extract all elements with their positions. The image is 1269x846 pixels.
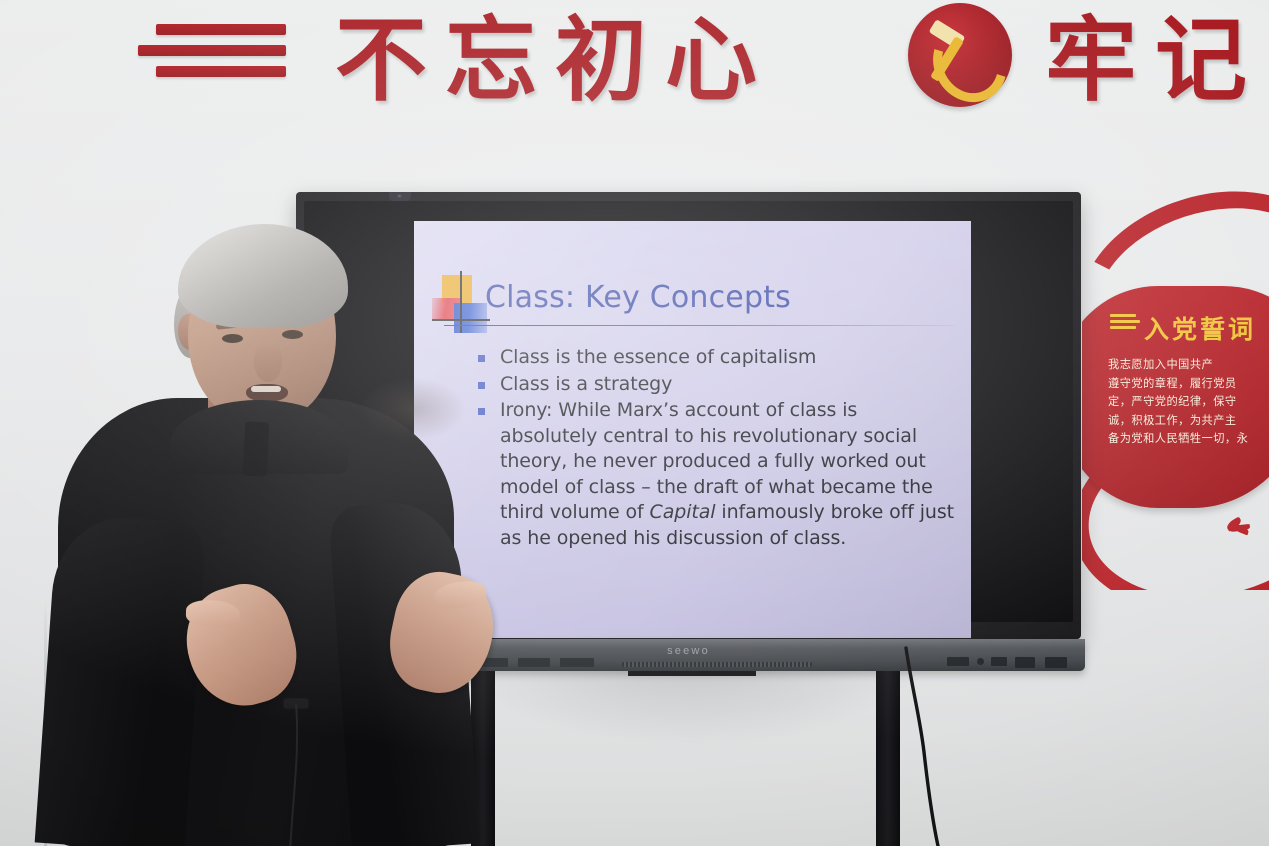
- presentation-slide[interactable]: Class: Key Concepts Class is the essence…: [414, 221, 971, 638]
- power-cable: [898, 648, 944, 846]
- eye-left: [222, 334, 243, 343]
- bullet-text-rich: Irony: While Marx’s account of class is …: [500, 398, 958, 551]
- banner-text-left: 不忘初心: [335, 0, 775, 119]
- stand-leg-right: [876, 671, 900, 846]
- speaker-grille: [622, 662, 812, 667]
- display-brand-label: seewo: [667, 645, 710, 657]
- wall-banner: 不忘初心 牢记: [0, 0, 1269, 110]
- eye-right: [282, 330, 303, 339]
- slide-bullet-list: Class is the essence of capitalism Class…: [478, 345, 958, 552]
- oath-body-text: 我志愿加入中国共产 遵守党的章程，履行党员 定，严守党的纪律，保守 诚，积极工作…: [1108, 356, 1269, 449]
- party-emblem-icon: [908, 3, 1012, 107]
- bullet-item: Irony: While Marx’s account of class is …: [478, 398, 958, 551]
- oath-heading: 入党誓词: [1144, 310, 1256, 346]
- party-oath-panel: 入党誓词 我志愿加入中国共产 遵守党的章程，履行党员 定，严守党的纪律，保守 诚…: [1082, 190, 1269, 590]
- shoulder-left: [35, 513, 208, 846]
- stand-crossbar: [628, 671, 756, 676]
- bullet-text: Class is a strategy: [500, 372, 672, 398]
- oath-line: 定，严守党的纪律，保守: [1108, 393, 1269, 412]
- nose: [254, 342, 282, 382]
- oath-line: 遵守党的章程，履行党员: [1108, 375, 1269, 394]
- beard-stubble: [354, 374, 472, 444]
- banner-dashes-icon: [128, 12, 288, 82]
- oath-line: 我志愿加入中国共产: [1108, 356, 1269, 375]
- bullet-marker-icon: [478, 408, 485, 415]
- banner-text-right: 牢记: [1045, 0, 1269, 119]
- microphone-cable: [270, 704, 330, 846]
- bullet-marker-icon: [478, 355, 485, 362]
- bullet-item: Class is the essence of capitalism: [478, 345, 958, 371]
- oath-line: 备为党和人民牺牲一切，永: [1108, 430, 1269, 449]
- bullet-item: Class is a strategy: [478, 372, 958, 398]
- presentation-photo-scene: 不忘初心 牢记 入党誓词 我志愿加入中国共产 遵守党的章程，履行党员 定，严守党…: [0, 0, 1269, 846]
- oath-line: 诚，积极工作，为共产主: [1108, 412, 1269, 431]
- camera-icon: [389, 192, 411, 201]
- bullet-text-italic: Capital: [650, 501, 716, 523]
- bezel-ports[interactable]: [947, 657, 1077, 669]
- dove-icon: [1222, 520, 1256, 536]
- bullet-text: Class is the essence of capitalism: [500, 345, 816, 371]
- hair: [178, 224, 348, 328]
- slide-title: Class: Key Concepts: [485, 280, 791, 315]
- presenter-person: [40, 218, 470, 846]
- oath-dashes-icon: [1110, 314, 1140, 332]
- slide-title-divider: [444, 325, 954, 326]
- bullet-marker-icon: [478, 382, 485, 389]
